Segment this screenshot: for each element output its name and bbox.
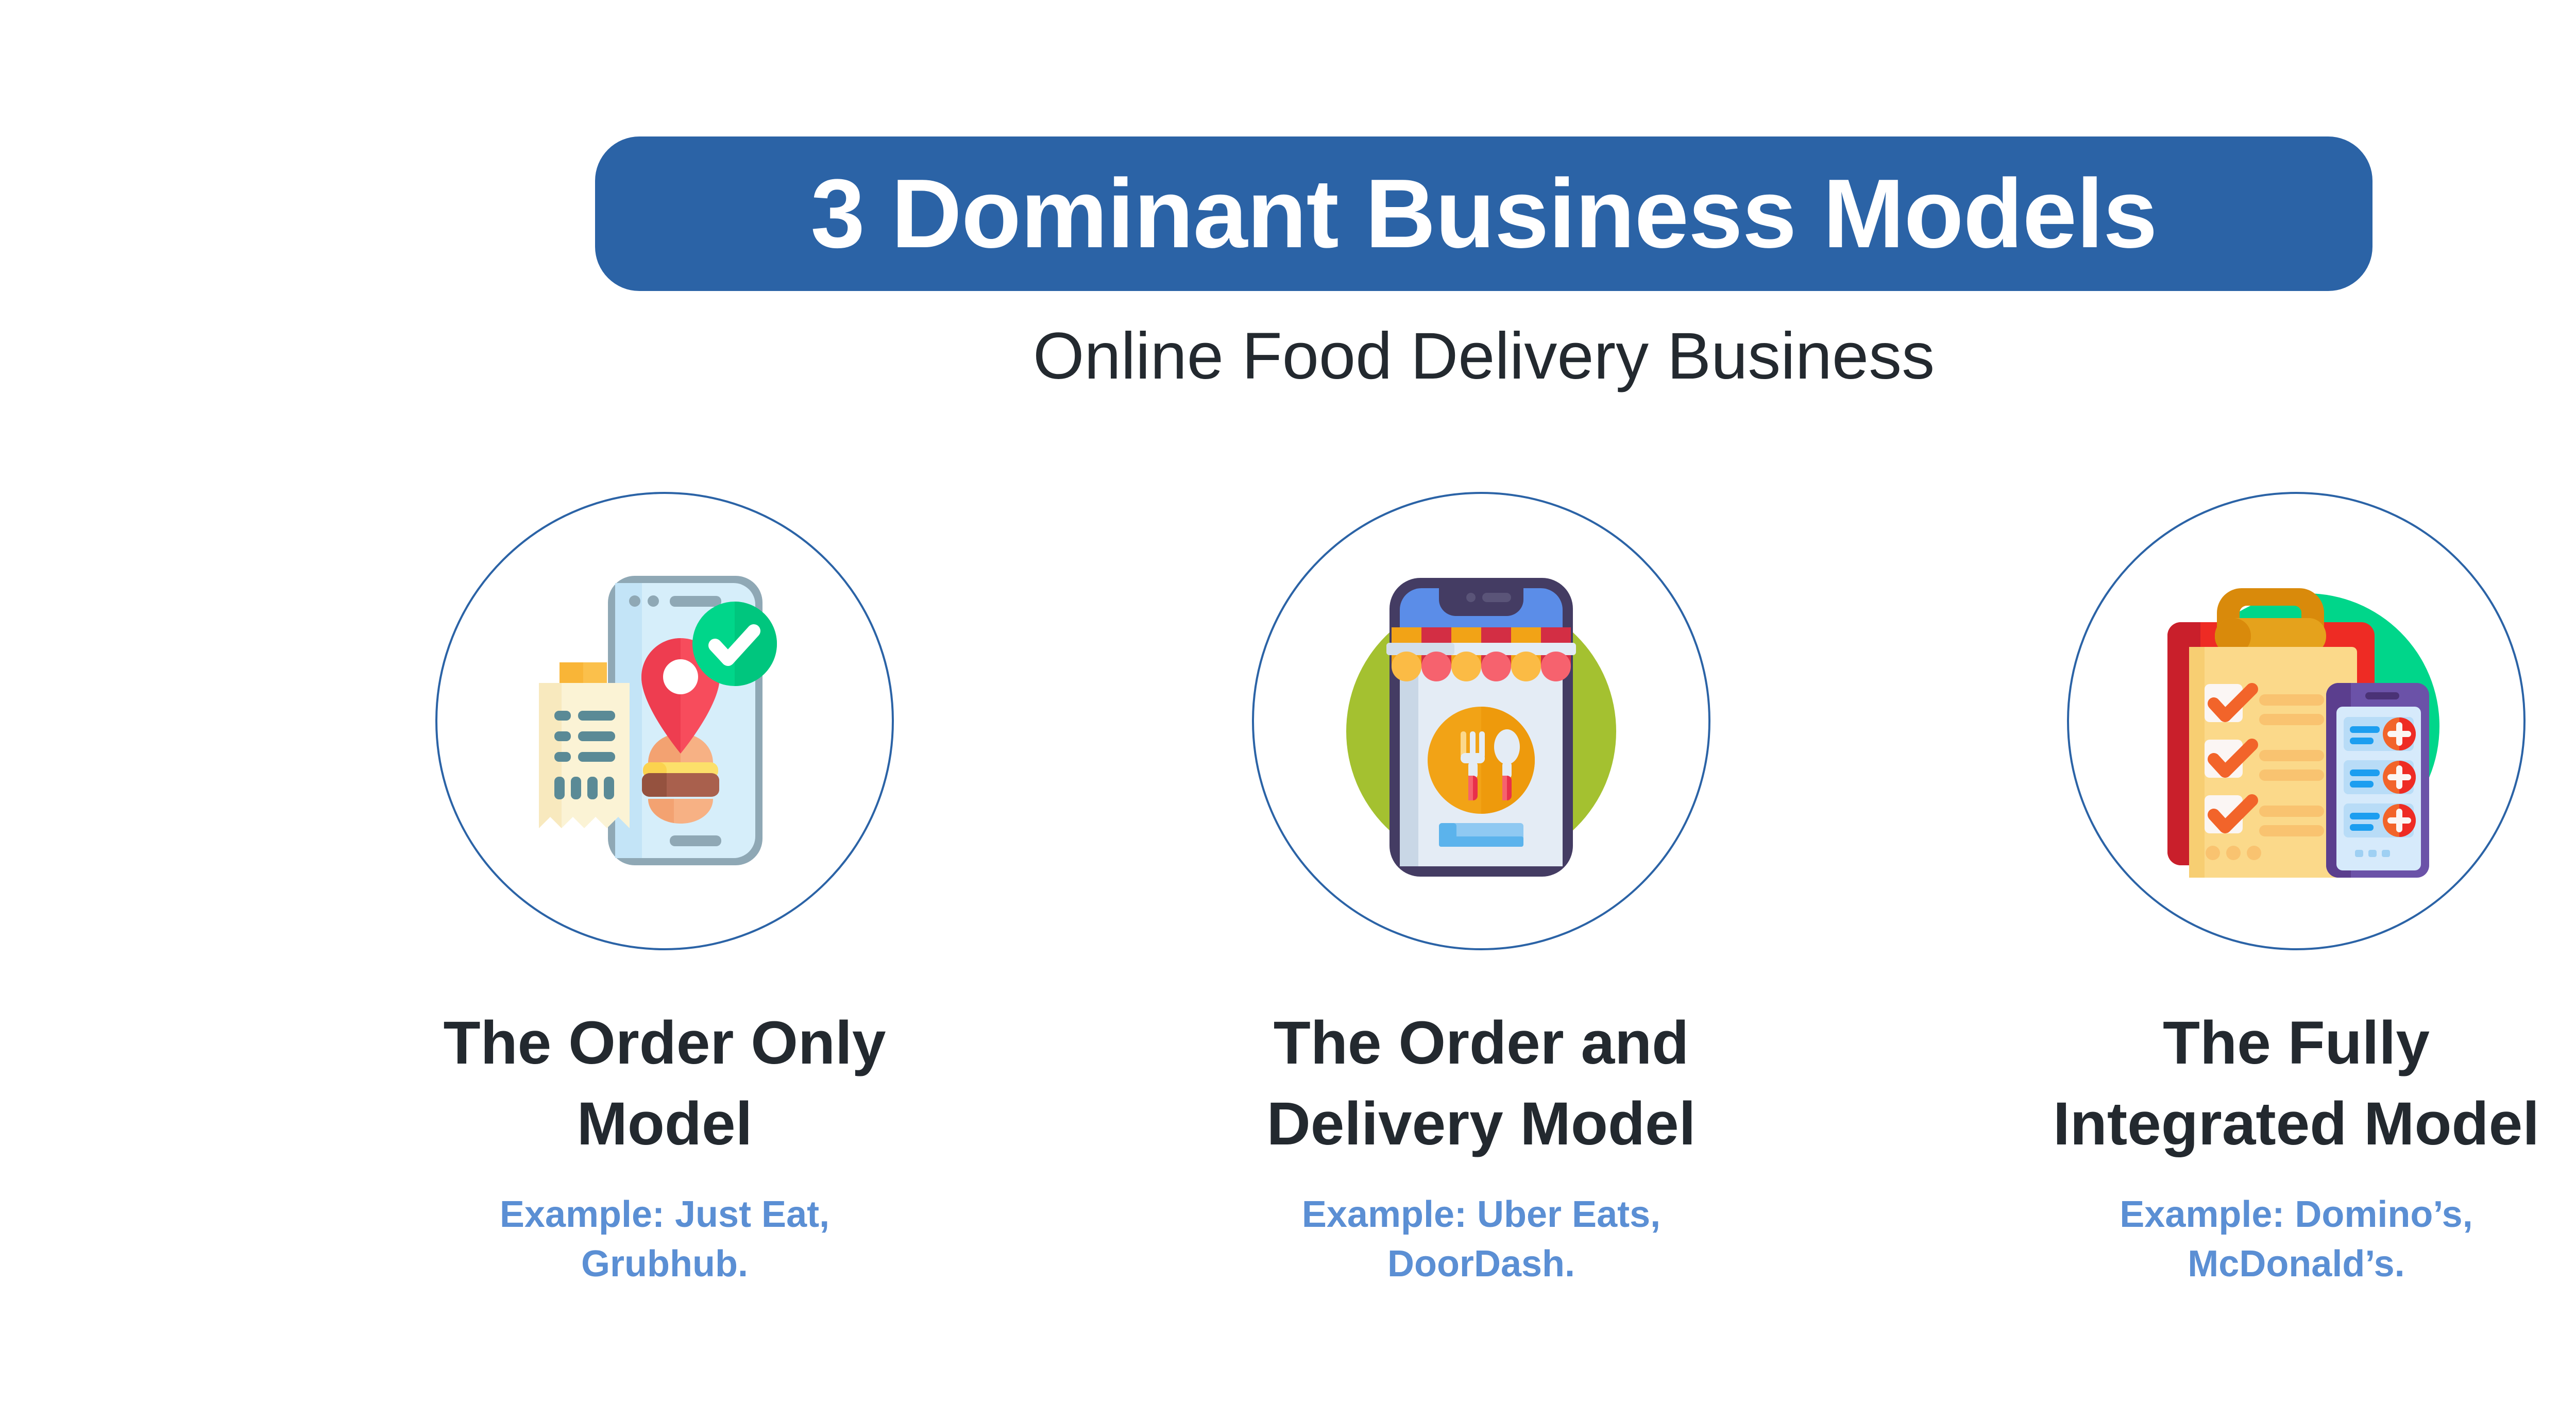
fully-integrated-clipboard-phone-icon — [2137, 561, 2456, 881]
business-model-card: The Fully Integrated Model Example: Domi… — [1997, 492, 2576, 1289]
icon-circle-frame — [435, 492, 894, 950]
icon-circle-frame — [2067, 492, 2526, 950]
order-and-delivery-storefront-phone-icon — [1321, 561, 1641, 881]
business-model-card: The Order Only Model Example: Just Eat, … — [366, 492, 963, 1289]
order-only-phone-receipt-icon — [505, 561, 824, 881]
business-model-card: The Order and Delivery Model Example: Ub… — [1182, 492, 1780, 1289]
card-example: Example: Uber Eats, DoorDash. — [1182, 1190, 1780, 1289]
icon-circle-frame — [1252, 492, 1710, 950]
card-title: The Order Only Model — [366, 1003, 963, 1165]
card-title: The Fully Integrated Model — [1997, 1003, 2576, 1165]
card-example: Example: Just Eat, Grubhub. — [366, 1190, 963, 1289]
card-example: Example: Domino’s, McDonald’s. — [1997, 1190, 2576, 1289]
card-title: The Order and Delivery Model — [1182, 1003, 1780, 1165]
business-models-card-row: The Order Only Model Example: Just Eat, … — [0, 0, 2576, 1420]
